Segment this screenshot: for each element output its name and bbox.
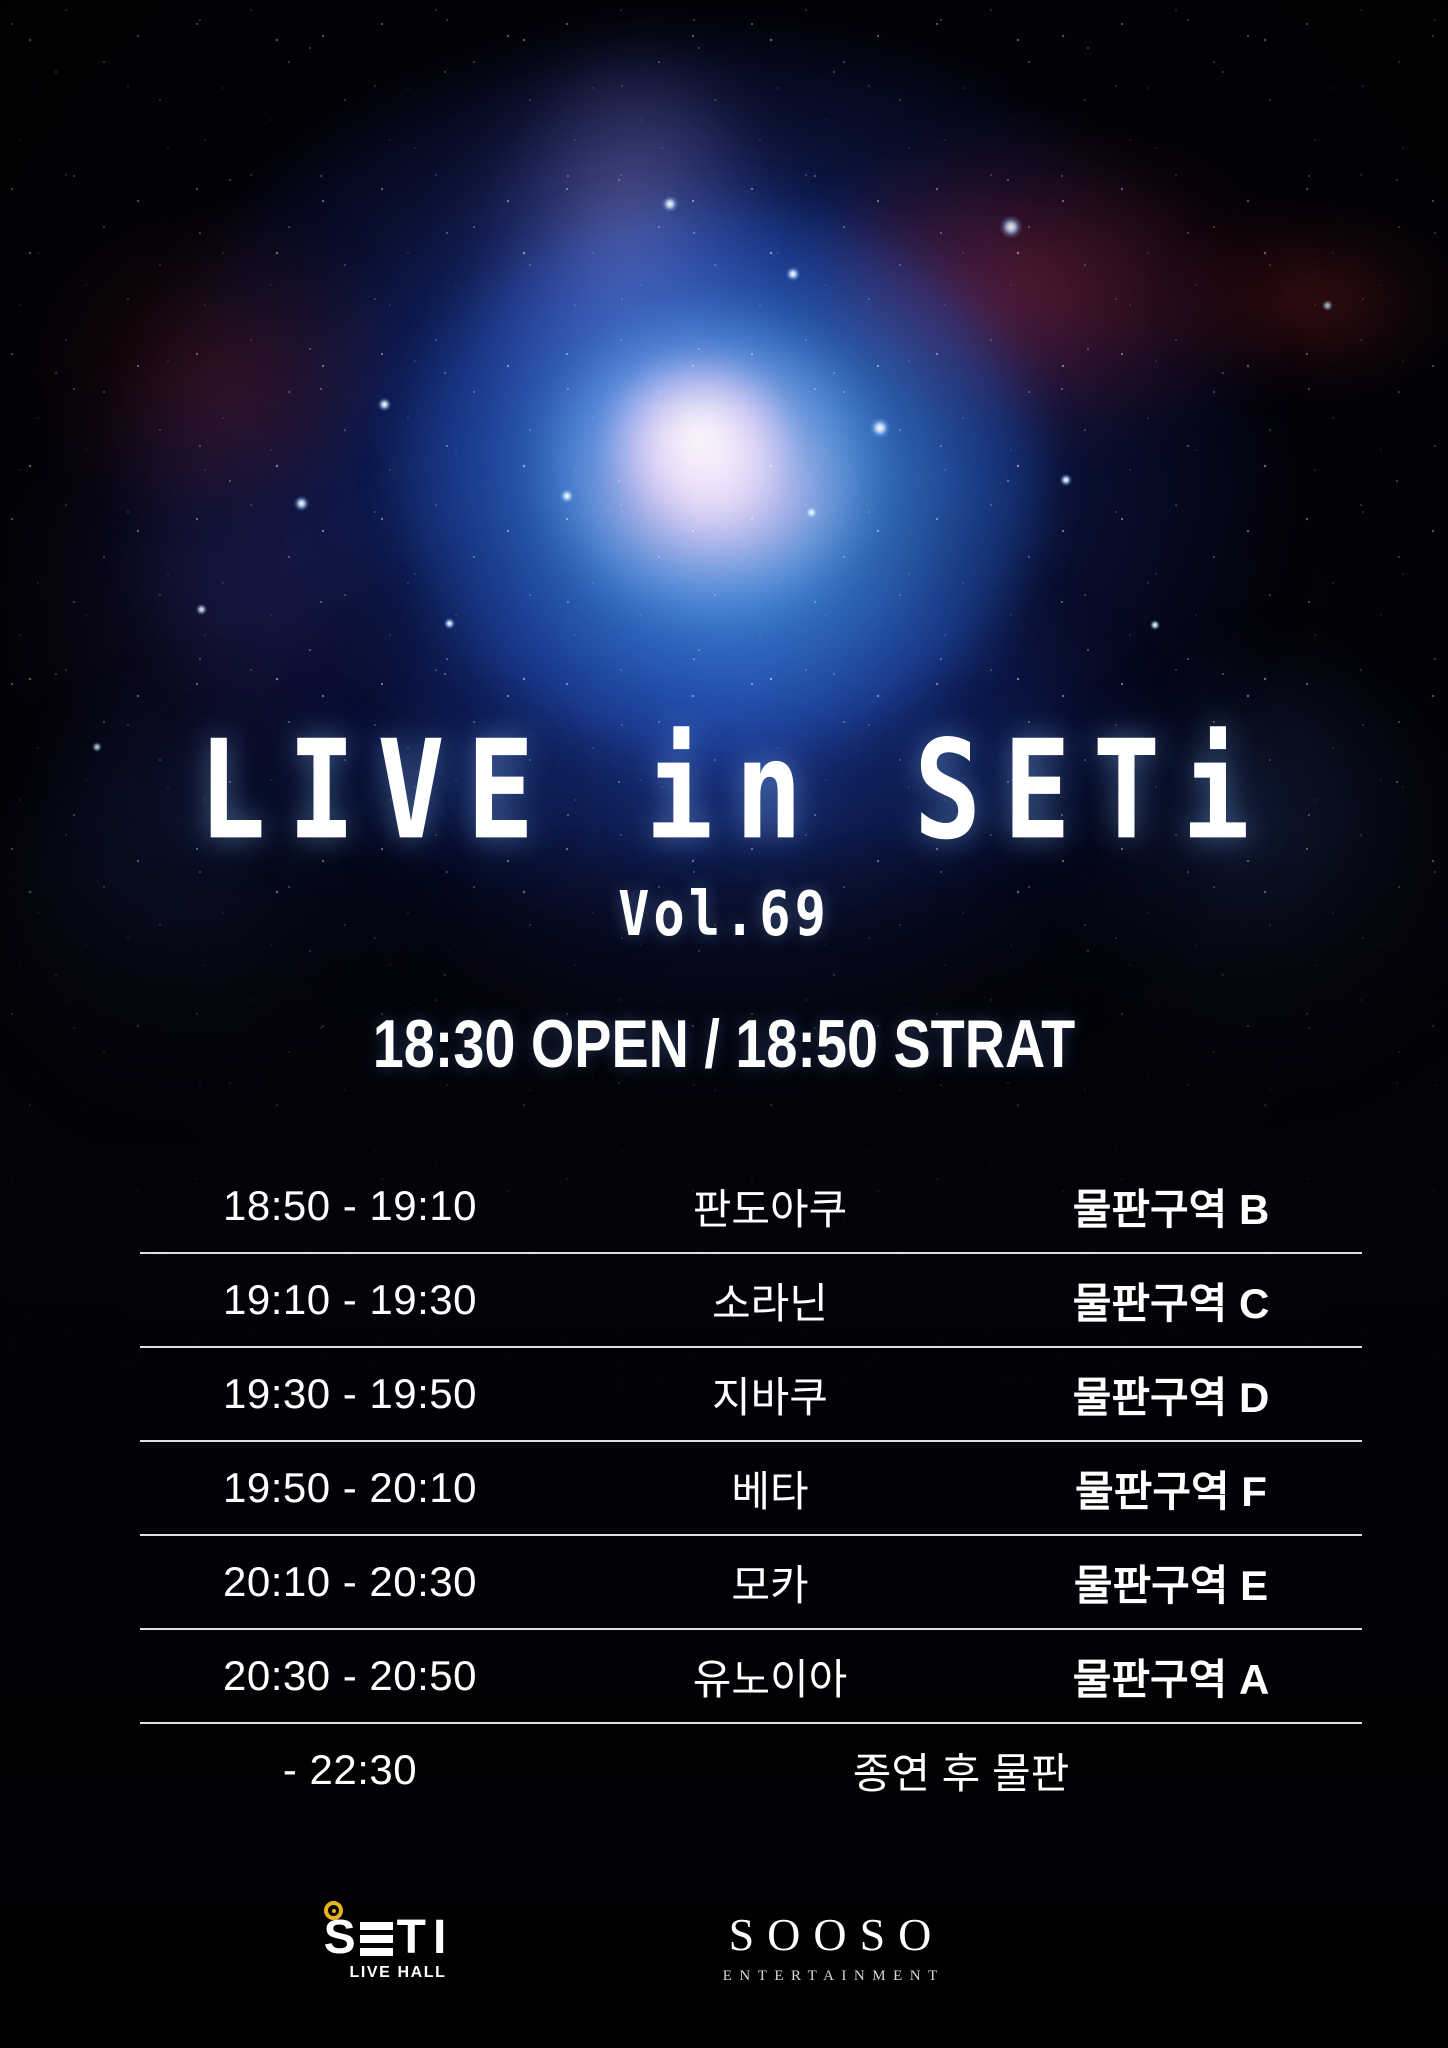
seti-letter-e-bars-icon (360, 1922, 393, 1956)
target-ring-icon (324, 1901, 343, 1920)
sooso-subtitle: ENTERTAINMENT (700, 1968, 960, 1985)
row-time: 19:50 - 20:10 (140, 1464, 560, 1512)
table-row: 19:10 - 19:30 소라닌 물판구역 C (140, 1254, 1362, 1348)
row-time: 19:10 - 19:30 (140, 1276, 560, 1324)
row-time: 19:30 - 19:50 (140, 1370, 560, 1418)
row-artist: 베타 (560, 1458, 980, 1519)
row-zone: 물판구역 A (980, 1646, 1362, 1707)
row-time: 20:10 - 20:30 (140, 1558, 560, 1606)
table-row: 20:10 - 20:30 모카 물판구역 E (140, 1536, 1362, 1630)
row-artist: 판도아쿠 (560, 1176, 980, 1237)
row-zone: 물판구역 B (980, 1176, 1362, 1237)
bar (360, 1948, 393, 1956)
row-zone: 물판구역 F (980, 1458, 1362, 1519)
sooso-wordmark: SOOSO (700, 1908, 960, 1961)
open-start-time: 18:30 OPEN / 18:50 STRAT (130, 1005, 1317, 1083)
seti-letter-s: S (324, 1916, 356, 1960)
table-row: 19:50 - 20:10 베타 물판구역 F (140, 1442, 1362, 1536)
poster-volume: Vol.69 (0, 880, 1448, 951)
seti-wordmark: S T I (310, 1904, 460, 1960)
row-artist: 지바쿠 (560, 1364, 980, 1425)
table-row: 18:50 - 19:10 판도아쿠 물판구역 B (140, 1160, 1362, 1254)
row-zone: 물판구역 C (980, 1270, 1362, 1331)
table-row: 19:30 - 19:50 지바쿠 물판구역 D (140, 1348, 1362, 1442)
row-time: 20:30 - 20:50 (140, 1652, 560, 1700)
row-artist: 소라닌 (560, 1270, 980, 1331)
row-artist: 유노이아 (560, 1646, 980, 1707)
row-zone: 물판구역 D (980, 1364, 1362, 1425)
seti-letter-i: I (433, 1916, 446, 1960)
bar (360, 1935, 393, 1943)
row-artist: 모카 (560, 1552, 980, 1613)
row-closing-note: 종연 후 물판 (560, 1740, 1362, 1801)
row-zone: 물판구역 E (980, 1552, 1362, 1613)
footer: S T I LIVE HALL SOOSO ENTERTAINMENT (0, 1900, 1448, 2020)
event-poster: LIVE in SETi Vol.69 18:30 OPEN / 18:50 S… (0, 0, 1448, 2048)
table-row-closing: - 22:30 종연 후 물판 (140, 1724, 1362, 1816)
sooso-entertainment-logo: SOOSO ENTERTAINMENT (700, 1908, 960, 1985)
bar (360, 1922, 393, 1930)
row-time: 18:50 - 19:10 (140, 1182, 560, 1230)
seti-letter-t: T (397, 1916, 426, 1960)
timetable: 18:50 - 19:10 판도아쿠 물판구역 B 19:10 - 19:30 … (140, 1160, 1362, 1816)
poster-title: LIVE in SETi (0, 723, 1448, 860)
title-block: LIVE in SETi Vol.69 (0, 735, 1448, 945)
table-row: 20:30 - 20:50 유노이아 물판구역 A (140, 1630, 1362, 1724)
row-time: - 22:30 (140, 1746, 560, 1794)
seti-subtitle: LIVE HALL (310, 1964, 460, 1982)
seti-live-hall-logo: S T I LIVE HALL (310, 1904, 460, 1982)
